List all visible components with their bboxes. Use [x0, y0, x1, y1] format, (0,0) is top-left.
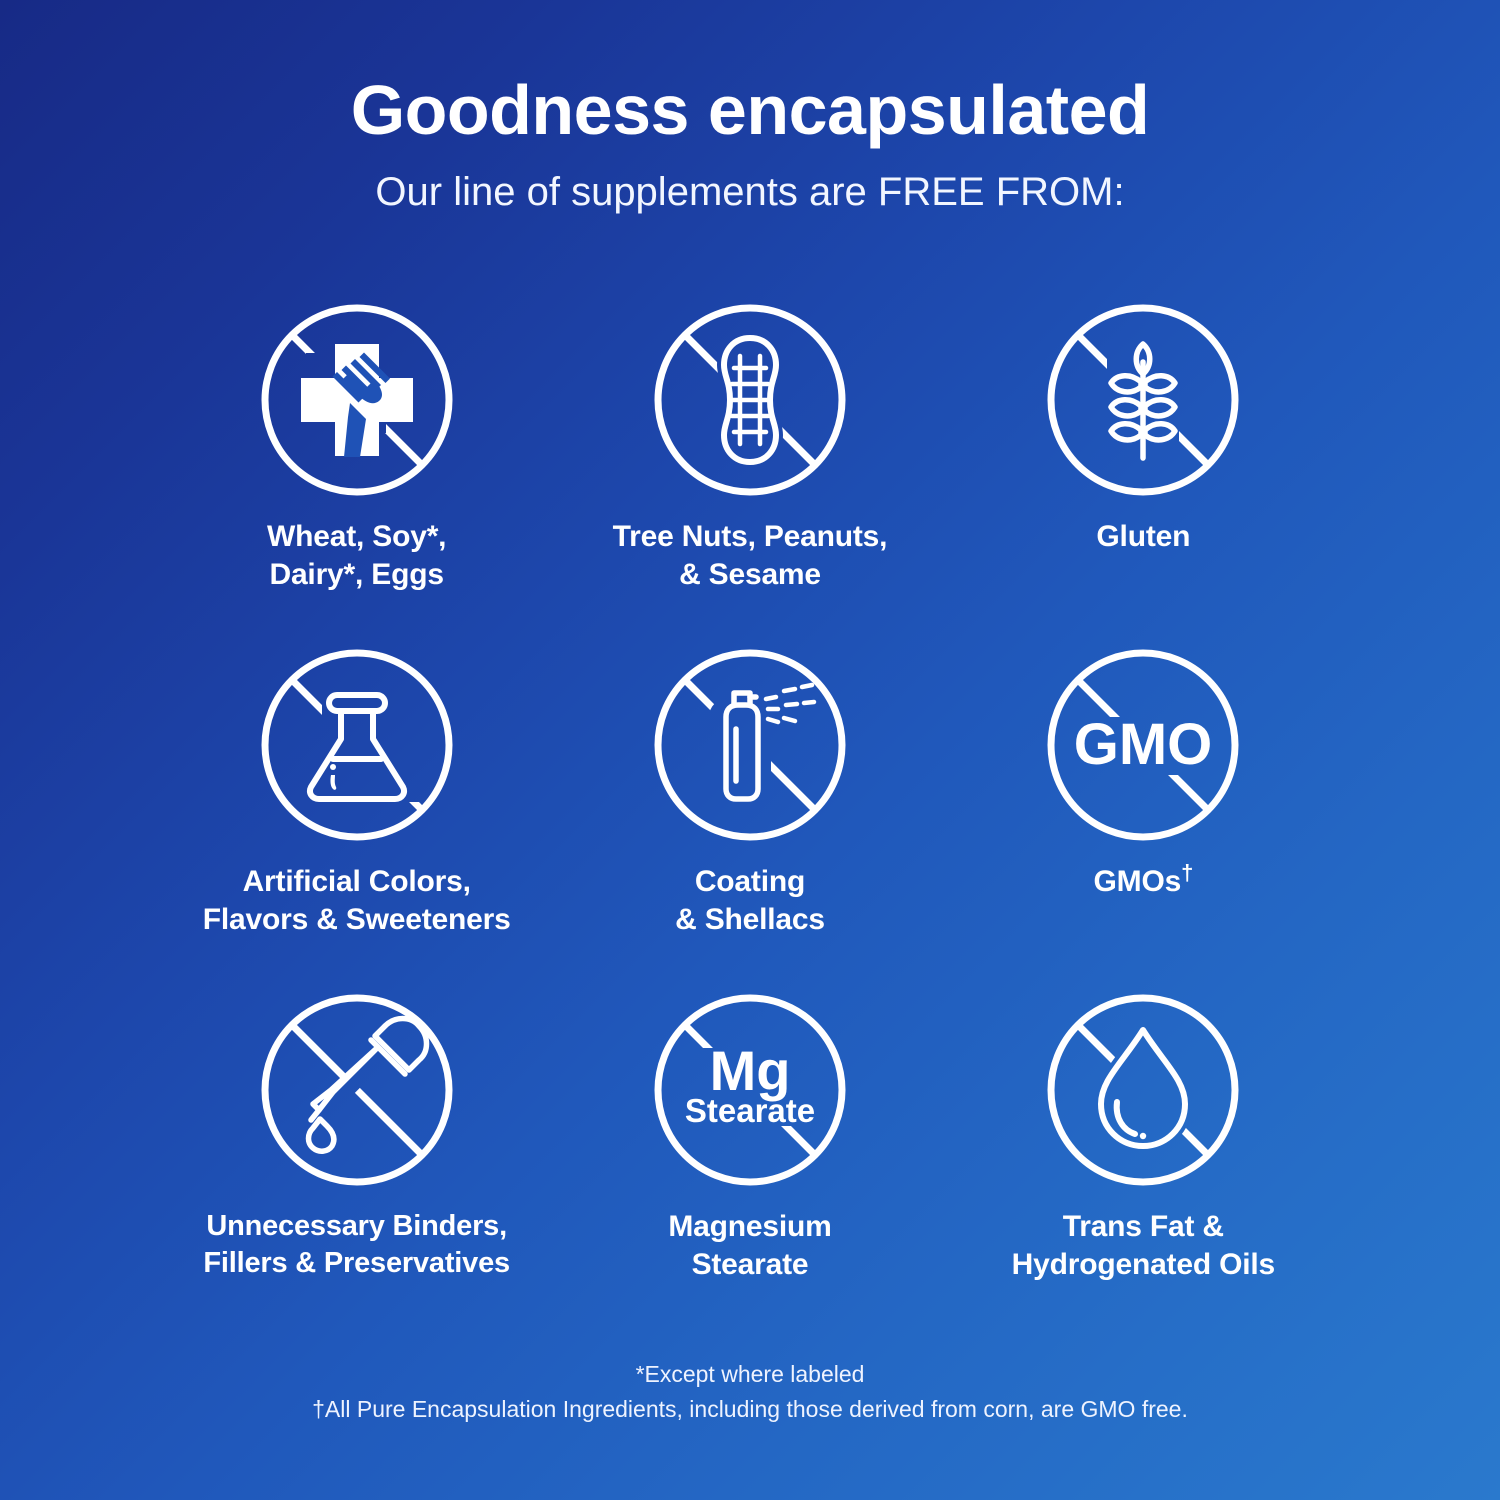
grid-item-trans-fat-hydrogenated-oils: Trans Fat & Hydrogenated Oils [947, 990, 1340, 1335]
footnote-asterisk: *Except where labeled [0, 1357, 1500, 1393]
no-peanut-icon [650, 300, 850, 500]
gmo-badge-text: GMO [1074, 712, 1213, 777]
footnotes: *Except where labeled †All Pure Encapsul… [0, 1357, 1500, 1428]
free-from-grid: Wheat, Soy*, Dairy*, Eggs [160, 300, 1340, 1335]
grid-item-gmos: GMO GMOs† [947, 645, 1340, 990]
no-spray-can-icon [650, 645, 850, 845]
grid-item-tree-nuts-peanuts-sesame: Tree Nuts, Peanuts, & Sesame [553, 300, 946, 645]
grid-item-label: Coating & Shellacs [675, 863, 825, 940]
grid-item-label: Gluten [1096, 518, 1190, 556]
grid-item-label: Artificial Colors, Flavors & Sweeteners [203, 863, 511, 940]
grid-item-label: GMOs† [1094, 863, 1194, 901]
no-fork-medical-cross-icon [257, 300, 457, 500]
grid-item-label: Trans Fat & Hydrogenated Oils [1012, 1208, 1275, 1285]
free-from-poster: Goodness encapsulated Our line of supple… [0, 0, 1500, 1500]
no-wheat-stalk-icon [1043, 300, 1243, 500]
footnote-dagger: †All Pure Encapsulation Ingredients, inc… [0, 1392, 1500, 1428]
no-erlenmeyer-flask-icon [257, 645, 457, 845]
no-gmo-text-icon: GMO [1043, 645, 1243, 845]
dagger-symbol: † [1181, 860, 1193, 885]
grid-item-label: Wheat, Soy*, Dairy*, Eggs [267, 518, 446, 595]
page-title: Goodness encapsulated [0, 74, 1500, 148]
no-magnesium-stearate-text-icon: Mg Stearate [650, 990, 850, 1190]
poster-header: Goodness encapsulated Our line of supple… [0, 0, 1500, 214]
grid-item-magnesium-stearate: Mg Stearate Magnesium Stearate [553, 990, 946, 1335]
no-oil-droplet-icon [1043, 990, 1243, 1190]
page-subtitle: Our line of supplements are FREE FROM: [0, 170, 1500, 214]
grid-item-unnecessary-binders-fillers-preservatives: Unnecessary Binders, Fillers & Preservat… [160, 990, 553, 1335]
grid-item-gluten: Gluten [947, 300, 1340, 645]
grid-item-label: Unnecessary Binders, Fillers & Preservat… [203, 1208, 510, 1282]
stearate-badge-text: Stearate [685, 1092, 815, 1129]
grid-item-artificial-colors-flavors-sweeteners: Artificial Colors, Flavors & Sweeteners [160, 645, 553, 990]
grid-item-label: Magnesium Stearate [668, 1208, 831, 1285]
grid-item-wheat-soy-dairy-eggs: Wheat, Soy*, Dairy*, Eggs [160, 300, 553, 645]
grid-item-coating-shellacs: Coating & Shellacs [553, 645, 946, 990]
no-dropper-pipette-icon [257, 990, 457, 1190]
grid-item-label: Tree Nuts, Peanuts, & Sesame [613, 518, 888, 595]
